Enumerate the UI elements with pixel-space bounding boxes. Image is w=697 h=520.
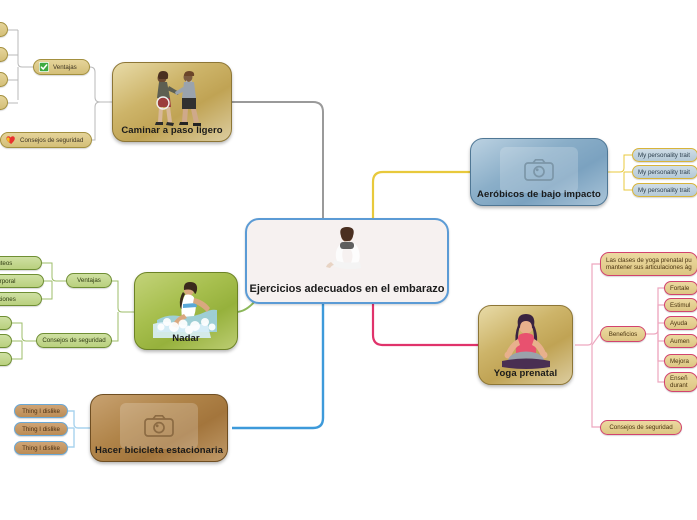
central-topic[interactable]: Ejercicios adecuados en el embarazo <box>245 218 449 304</box>
subnode-aerobicos-trait-2[interactable]: My personality trait <box>632 165 697 179</box>
topic-nadar[interactable]: Nadar <box>134 272 238 350</box>
subnode-nadar-consejo-1[interactable] <box>0 316 12 330</box>
subnode-yoga-beneficio-4[interactable]: Aumen <box>664 334 697 348</box>
subnode-nadar-ventaja-1-label: y los glúteos <box>0 260 12 267</box>
subnode-yoga-beneficio-6[interactable]: Enseñ durant <box>664 372 697 392</box>
subnode-aerobicos-trait-1-label: My personality trait <box>638 152 690 159</box>
subnode-bicicleta-dislike-1[interactable]: Thing I dislike <box>14 404 68 418</box>
subnode-aerobicos-trait-2-label: My personality trait <box>638 169 690 176</box>
topic-bicicleta-label: Hacer bicicleta estacionaria <box>91 445 227 456</box>
photo-placeholder-frame <box>500 147 578 193</box>
camera-icon <box>144 414 174 438</box>
pregnant-woman-stretching-image <box>314 226 380 270</box>
subnode-caminar-ventaja-2[interactable] <box>0 47 8 62</box>
woman-swimming-image <box>149 280 223 338</box>
woman-lotus-pose-image <box>488 313 564 375</box>
subnode-caminar-ventaja-1[interactable] <box>0 22 8 37</box>
subnode-yoga-intro-label: Las clases de yoga prenatal pu mantener … <box>606 257 692 272</box>
subnode-caminar-consejos-label: Consejos de seguridad <box>20 137 83 144</box>
subnode-yoga-beneficio-3-label: Ayuda <box>670 320 687 327</box>
subnode-aerobicos-trait-3-label: My personality trait <box>638 187 690 194</box>
subnode-yoga-beneficio-1[interactable]: Fortale <box>664 281 697 295</box>
subnode-bicicleta-dislike-2[interactable]: Thing I dislike <box>14 422 68 436</box>
subnode-caminar-ventaja-4[interactable] <box>0 95 8 110</box>
subnode-nadar-consejo-3[interactable] <box>0 352 12 366</box>
subnode-bicicleta-dislike-3-label: Thing I dislike <box>22 445 60 452</box>
subnode-yoga-beneficio-6-label: Enseñ durant <box>670 375 692 390</box>
subnode-bicicleta-dislike-3[interactable]: Thing I dislike <box>14 441 68 455</box>
subnode-yoga-beneficio-4-label: Aumen <box>670 338 690 345</box>
photo-placeholder-frame-bicicleta <box>120 403 198 449</box>
subnode-caminar-ventajas[interactable]: Ventajas <box>33 59 90 75</box>
subnode-nadar-consejos[interactable]: Consejos de seguridad <box>36 333 112 348</box>
subnode-yoga-consejos[interactable]: Consejos de seguridad <box>600 420 682 435</box>
central-topic-label: Ejercicios adecuados en el embarazo <box>247 283 447 296</box>
subnode-bicicleta-dislike-2-label: Thing I dislike <box>22 426 60 433</box>
double-heart-icon <box>6 135 16 145</box>
topic-aerobicos[interactable]: Aeróbicos de bajo impacto <box>470 138 608 206</box>
subnode-caminar-consejos[interactable]: Consejos de seguridad <box>0 132 92 148</box>
subnode-caminar-ventaja-3[interactable] <box>0 72 8 87</box>
subnode-yoga-beneficios[interactable]: Beneficios <box>600 326 646 342</box>
topic-bicicleta[interactable]: Hacer bicicleta estacionaria <box>90 394 228 462</box>
subnode-yoga-beneficios-label: Beneficios <box>609 331 638 338</box>
subnode-caminar-ventajas-label: Ventajas <box>53 64 77 71</box>
topic-yoga-label: Yoga prenatal <box>479 368 572 379</box>
subnode-yoga-consejos-label: Consejos de seguridad <box>609 424 672 431</box>
topic-caminar-label: Caminar a paso ligero <box>113 125 231 136</box>
topic-yoga[interactable]: Yoga prenatal <box>478 305 573 385</box>
subnode-aerobicos-trait-3[interactable]: My personality trait <box>632 183 697 197</box>
subnode-yoga-beneficio-3[interactable]: Ayuda <box>664 316 697 330</box>
subnode-aerobicos-trait-1[interactable]: My personality trait <box>632 148 697 162</box>
green-check-icon <box>39 62 49 72</box>
subnode-nadar-ventaja-3[interactable]: articulaciones <box>0 292 42 306</box>
subnode-bicicleta-dislike-1-label: Thing I dislike <box>22 408 60 415</box>
subnode-yoga-beneficio-1-label: Fortale <box>670 285 689 292</box>
topic-caminar[interactable]: Caminar a paso ligero <box>112 62 232 142</box>
subnode-yoga-beneficio-2-label: Estimul <box>670 302 690 309</box>
subnode-nadar-ventaja-3-label: articulaciones <box>0 296 16 303</box>
topic-nadar-label: Nadar <box>135 333 237 344</box>
subnode-nadar-ventaja-2-label: peso corporal <box>0 278 16 285</box>
subnode-yoga-beneficio-5-label: Mejora <box>670 358 689 365</box>
topic-aerobicos-label: Aeróbicos de bajo impacto <box>471 189 607 200</box>
mindmap-canvas: Ejercicios adecuados en el embarazo <box>0 0 697 520</box>
subnode-nadar-consejo-2[interactable] <box>0 334 12 348</box>
subnode-yoga-beneficio-5[interactable]: Mejora <box>664 354 697 368</box>
subnode-nadar-ventajas-label: Ventajas <box>77 277 101 284</box>
camera-icon <box>524 158 554 182</box>
subnode-nadar-ventaja-2[interactable]: peso corporal <box>0 274 44 288</box>
subnode-nadar-consejos-label: Consejos de seguridad <box>42 337 105 344</box>
subnode-yoga-beneficio-2[interactable]: Estimul <box>664 298 697 312</box>
subnode-nadar-ventajas[interactable]: Ventajas <box>66 273 112 288</box>
couple-walking-image <box>133 70 211 128</box>
subnode-yoga-intro[interactable]: Las clases de yoga prenatal pu mantener … <box>600 252 697 276</box>
subnode-nadar-ventaja-1[interactable]: y los glúteos <box>0 256 42 270</box>
